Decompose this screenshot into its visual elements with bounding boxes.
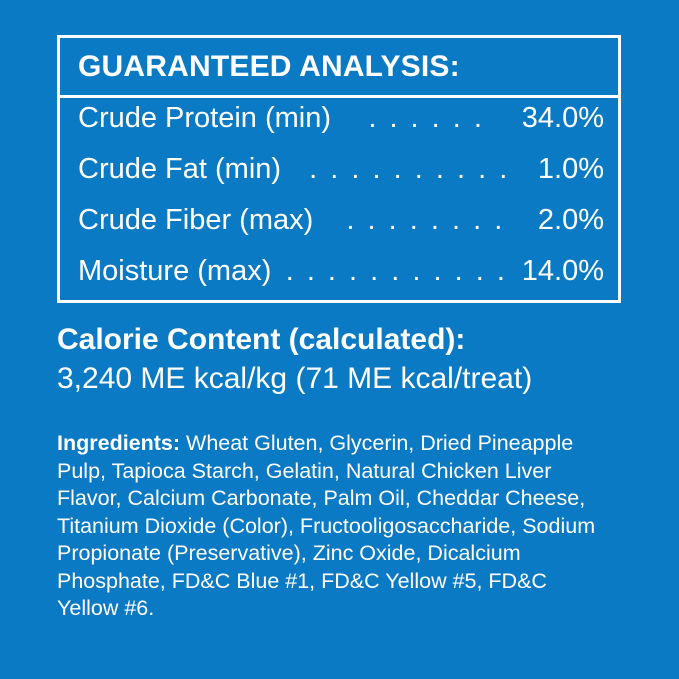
nutrient-label: Crude Fat (min) [78,153,281,186]
guaranteed-analysis-heading: GUARANTEED ANALYSIS: [60,38,618,95]
nutrient-label: Crude Protein (min) [78,102,331,135]
nutrient-row: Crude Protein (min) . . . . . . 34.0% [78,102,604,153]
ingredients-text: Wheat Gluten, Glycerin, Dried Pineapple … [57,431,595,620]
ingredients-block: Ingredients: Wheat Gluten, Glycerin, Dri… [57,430,607,623]
nutrient-value: 2.0% [538,204,604,237]
guaranteed-analysis-panel: GUARANTEED ANALYSIS: Crude Protein (min)… [57,35,621,303]
nutrient-row: Moisture (max) . . . . . . . . . . . 14.… [78,255,604,306]
calorie-content-value: 3,240 ME kcal/kg (71 ME kcal/treat) [57,359,637,398]
calorie-content-block: Calorie Content (calculated): 3,240 ME k… [57,322,637,398]
dot-leader: . . . . . . . . . . . [271,255,521,288]
guaranteed-analysis-rows: Crude Protein (min) . . . . . . 34.0% Cr… [60,98,618,306]
nutrient-value: 1.0% [538,153,604,186]
dot-leader: . . . . . . . . [313,204,538,237]
nutrient-value: 34.0% [522,102,604,135]
dot-leader: . . . . . . . . . . [281,153,538,186]
ingredients-label: Ingredients: [57,431,180,455]
nutrient-row: Crude Fat (min) . . . . . . . . . . 1.0% [78,153,604,204]
nutrient-row: Crude Fiber (max) . . . . . . . . 2.0% [78,204,604,255]
nutrient-label: Moisture (max) [78,255,271,288]
dot-leader: . . . . . . [331,102,522,135]
nutrient-label: Crude Fiber (max) [78,204,313,237]
nutrient-value: 14.0% [522,255,604,288]
calorie-content-title: Calorie Content (calculated): [57,322,637,357]
